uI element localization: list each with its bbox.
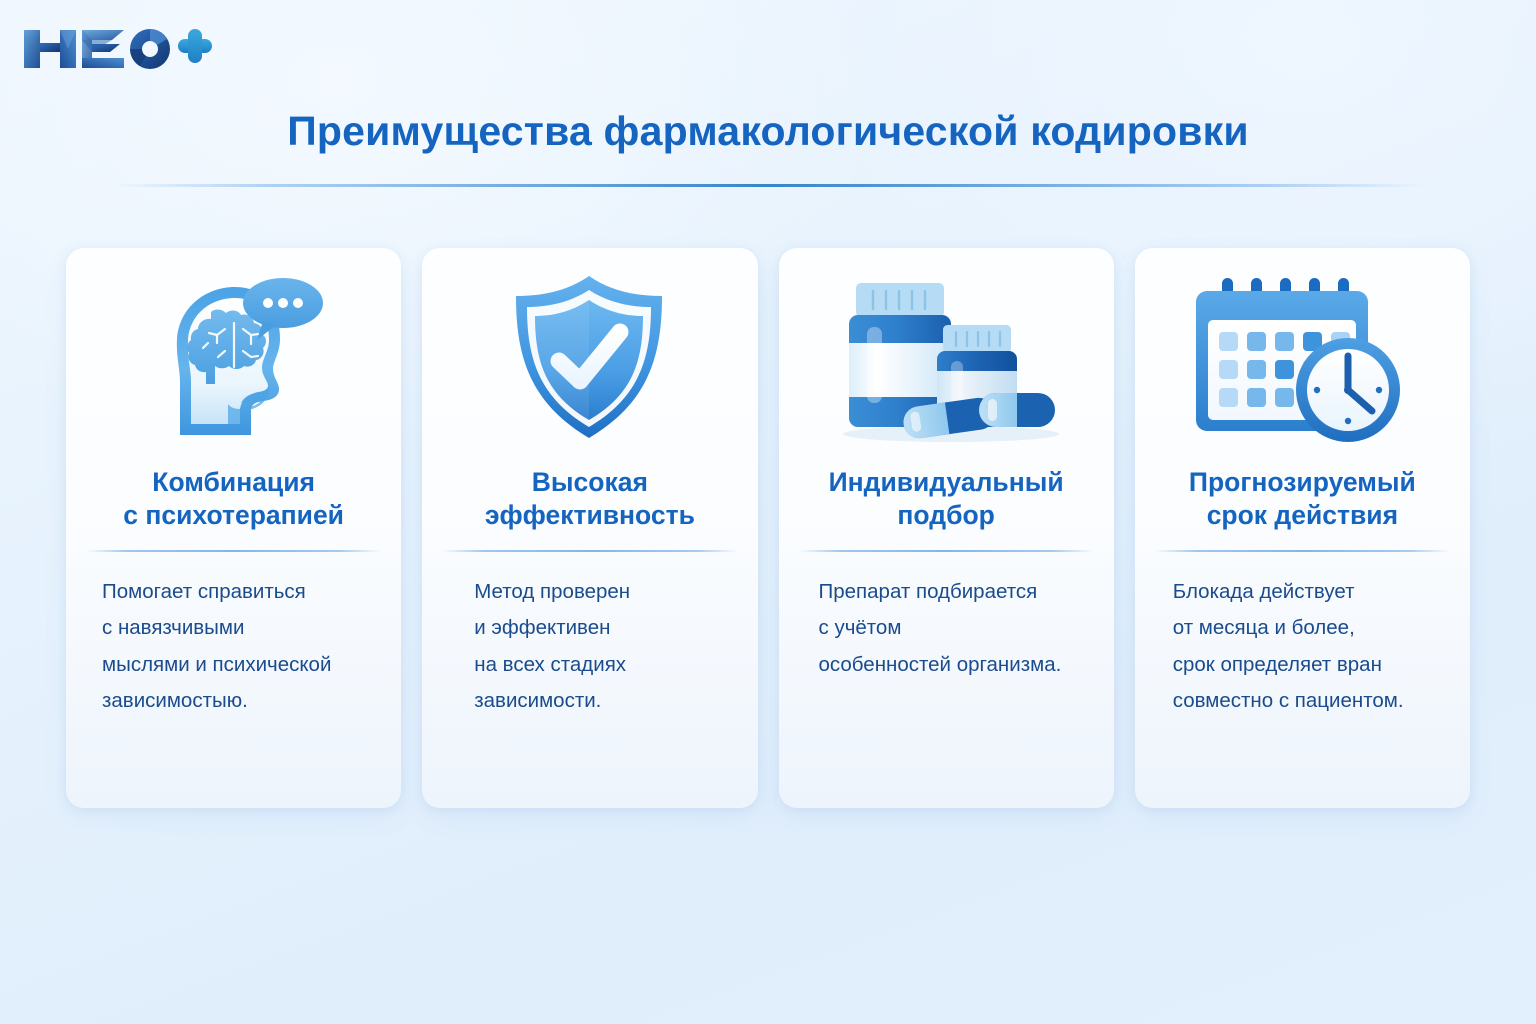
- benefit-card-combination[interactable]: Комбинация с психотерапией Помогает спра…: [66, 248, 401, 808]
- card-body-line: с учётом: [819, 610, 1088, 646]
- card-title-line: Высокая: [485, 466, 695, 499]
- clock-tick: [1314, 387, 1320, 393]
- benefit-card-predictable-duration[interactable]: Прогнозируемый срок действия Блокада дей…: [1135, 248, 1470, 808]
- logo-letter-n: [24, 30, 76, 68]
- pill-bottles-capsules-icon: [831, 271, 1061, 443]
- clock-center: [1344, 386, 1352, 394]
- card-title: Комбинация с психотерапией: [109, 466, 358, 544]
- card-title: Индивидуальный подбор: [815, 466, 1078, 544]
- bubble-dot: [293, 298, 303, 308]
- card-body: Метод проверен и эффективен на всех стад…: [422, 552, 757, 720]
- card-body-line: срок определяет вран: [1173, 647, 1444, 683]
- card-body-line: от месяца и более,: [1173, 610, 1444, 646]
- card-body: Блокада действует от месяца и более, сро…: [1135, 552, 1470, 720]
- card-title: Прогнозируемый срок действия: [1175, 466, 1430, 544]
- card-icon-slot: [66, 248, 401, 466]
- header-divider: [112, 184, 1426, 187]
- bubble-dot: [263, 298, 273, 308]
- infographic-slide: Преимущества фармакологической кодировки: [0, 0, 1536, 1024]
- page-title: Преимущества фармакологической кодировки: [0, 108, 1536, 155]
- card-icon-slot: [422, 248, 757, 466]
- card-title-line: Прогнозируемый: [1189, 466, 1416, 499]
- card-body-line: совместно с пациентом.: [1173, 683, 1444, 719]
- card-title-line: с психотерапией: [123, 499, 344, 532]
- card-body-line: Препарат подбирается: [819, 574, 1088, 610]
- card-body-line: зависимостыю.: [102, 683, 375, 719]
- card-icon-slot: [779, 248, 1114, 466]
- card-body-line: с навязчивыми: [102, 610, 375, 646]
- card-body: Препарат подбирается с учётом особенност…: [779, 552, 1114, 683]
- card-body-line: мыслями и психической: [102, 647, 375, 683]
- logo-letter-o: [130, 29, 170, 69]
- card-title-line: Комбинация: [123, 466, 344, 499]
- clock-icon: [1296, 338, 1400, 442]
- clock-tick: [1345, 418, 1351, 424]
- card-title-line: подбор: [829, 499, 1064, 532]
- card-title-line: эффективность: [485, 499, 695, 532]
- card-body-line: на всех стадиях: [474, 647, 731, 683]
- brand-logo: [16, 18, 216, 80]
- clock-tick: [1376, 387, 1382, 393]
- card-body-line: Метод проверен: [474, 574, 731, 610]
- card-title: Высокая эффективность: [471, 466, 709, 544]
- benefit-card-individual-selection[interactable]: Индивидуальный подбор Препарат подбирает…: [779, 248, 1114, 808]
- card-body-line: особенностей организма.: [819, 647, 1088, 683]
- benefit-card-effectiveness[interactable]: Высокая эффективность Метод проверен и э…: [422, 248, 757, 808]
- logo-plus-icon: [178, 29, 212, 63]
- card-body: Помогает справиться с навязчивыми мыслям…: [66, 552, 401, 720]
- card-title-line: Индивидуальный: [829, 466, 1064, 499]
- capsule-right: [979, 393, 1055, 427]
- brand-logo-icon: [16, 18, 216, 80]
- bubble-dot: [278, 298, 288, 308]
- card-body-line: и эффективен: [474, 610, 731, 646]
- shield-check-icon: [502, 268, 677, 446]
- logo-letter-e: [82, 30, 124, 68]
- card-body-line: зависимости.: [474, 683, 731, 719]
- head-brain-speech-bubble-icon: [139, 265, 329, 450]
- card-body-line: Блокада действует: [1173, 574, 1444, 610]
- calendar-clock-icon: [1188, 268, 1416, 446]
- card-title-line: срок действия: [1189, 499, 1416, 532]
- card-icon-slot: [1135, 248, 1470, 466]
- card-body-line: Помогает справиться: [102, 574, 375, 610]
- benefits-card-row: Комбинация с психотерапией Помогает спра…: [66, 248, 1470, 808]
